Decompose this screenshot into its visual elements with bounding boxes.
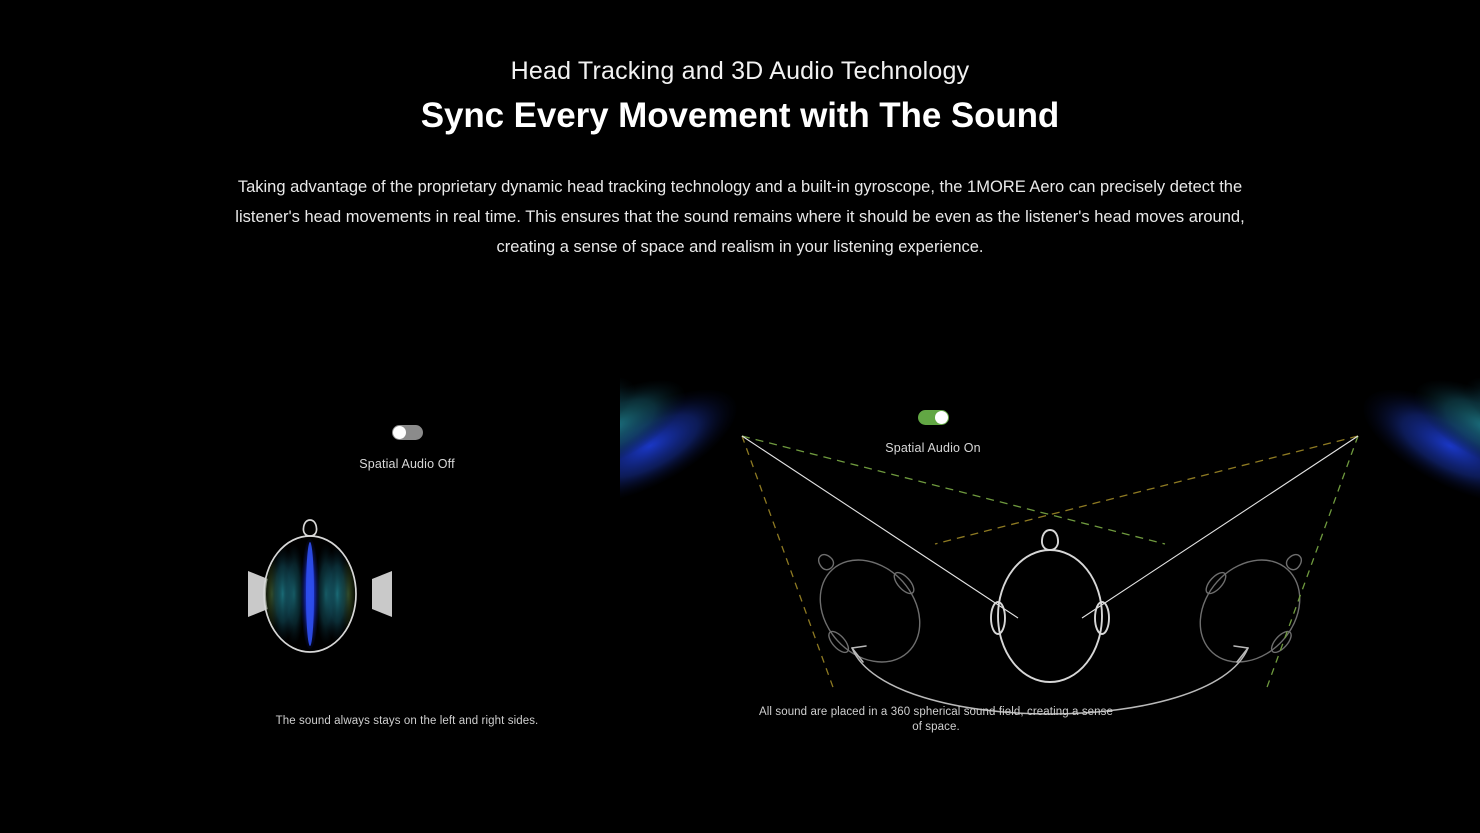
page-root: Head Tracking and 3D Audio Technology Sy… <box>0 0 1480 833</box>
panel-right-caption: All sound are placed in a 360 spherical … <box>756 705 1116 734</box>
spatial-audio-on-label: Spatial Audio On <box>803 441 1063 455</box>
ray-group-right-source <box>935 436 1358 690</box>
panel-spatial-audio-on: Spatial Audio On All sound are placed in… <box>620 296 1480 833</box>
head-outline-rotated-right <box>1175 523 1336 687</box>
page-title: Sync Every Movement with The Sound <box>0 87 1480 139</box>
earbud-right-icon <box>372 571 392 617</box>
panel-spatial-audio-off: Spatial Audio Off The sound always stays… <box>0 296 620 833</box>
spatial-audio-on-control: Spatial Audio On <box>803 409 1063 455</box>
illustration-stage: Spatial Audio Off The sound always stays… <box>0 296 1480 833</box>
head-tracking-360-diagram <box>620 296 1480 833</box>
ray-solid-left <box>742 436 1018 618</box>
page-header: Head Tracking and 3D Audio Technology Sy… <box>0 0 1480 262</box>
ray-group-left-source <box>742 436 1165 690</box>
spatial-audio-off-label: Spatial Audio Off <box>277 457 537 471</box>
spatial-audio-toggle-off[interactable] <box>392 425 423 440</box>
sound-source-left <box>620 304 753 530</box>
spatial-audio-off-control: Spatial Audio Off <box>277 424 537 471</box>
panel-left-caption: The sound always stays on the left and r… <box>227 714 587 729</box>
head-outline-top-view <box>264 520 356 652</box>
earbud-left-icon <box>248 571 268 617</box>
toggle-knob <box>393 426 406 439</box>
ray-solid-right <box>1082 436 1358 618</box>
sound-source-right <box>1347 304 1480 530</box>
body-paragraph: Taking advantage of the proprietary dyna… <box>220 139 1260 262</box>
eyebrow-text: Head Tracking and 3D Audio Technology <box>0 0 1480 87</box>
sound-field-lateral <box>263 538 357 650</box>
ray-dashed-gold-left <box>742 436 834 690</box>
ray-dashed-green-right <box>1266 436 1358 690</box>
head-outline-rotated-left <box>783 523 944 687</box>
spatial-audio-toggle-on[interactable] <box>918 410 949 425</box>
head-rotation-arrow <box>852 646 1248 714</box>
toggle-knob <box>935 411 948 424</box>
head-fixed-sound-diagram <box>0 296 620 833</box>
head-outline-center <box>991 530 1109 682</box>
